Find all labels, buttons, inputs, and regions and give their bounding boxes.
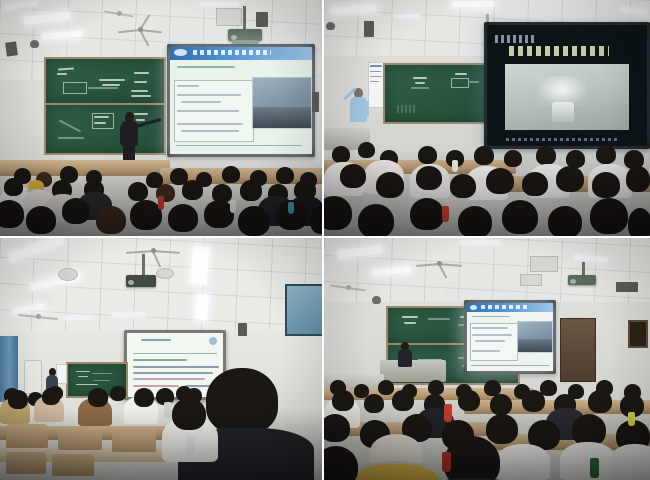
- wall-speaker: [256, 12, 268, 27]
- ceiling-vent: [216, 8, 242, 26]
- photo-panel-bottom-left: [0, 238, 322, 480]
- presentation-slide: [487, 25, 647, 146]
- water-bottle: [444, 404, 452, 422]
- slide-caption: [506, 138, 618, 142]
- security-camera: [372, 296, 381, 304]
- projector-mount-rod: [142, 254, 145, 276]
- wall-speaker: [238, 323, 247, 336]
- water-bottle: [186, 436, 195, 454]
- presentation-slide: [170, 47, 312, 154]
- ceiling-fan: [416, 254, 462, 272]
- projector-mount-rod: [582, 262, 585, 276]
- slide-photo: [252, 77, 312, 129]
- slide-title-text: [481, 305, 528, 309]
- water-bottle: [452, 160, 458, 172]
- chair-back: [6, 424, 48, 448]
- presentation-slide: [467, 303, 553, 371]
- lecturer-torso: [350, 97, 367, 122]
- chalkboard-upper: [44, 57, 166, 106]
- ceiling-vent: [58, 268, 78, 281]
- lecturer-torso: [398, 349, 412, 367]
- projection-screen: [484, 22, 650, 149]
- ceiling-vent: [520, 274, 542, 286]
- chair-back: [58, 426, 102, 450]
- lecturer-arm-right: [365, 101, 369, 117]
- water-bottle: [164, 402, 172, 418]
- picture-frame: [628, 320, 648, 348]
- projector-lens: [570, 279, 576, 284]
- screen-side-speaker: [312, 92, 319, 112]
- photo-panel-bottom-right: [324, 238, 650, 480]
- window: [285, 284, 322, 336]
- water-bottle: [158, 196, 164, 210]
- ceiling-vent: [530, 256, 558, 272]
- slide-photo: [517, 321, 553, 353]
- projection-screen: [167, 44, 315, 157]
- slide-logo-icon: [470, 305, 478, 310]
- photo-panel-top-right: [324, 0, 650, 236]
- projector-mount-rod: [486, 14, 489, 22]
- ceiling-fan: [118, 18, 162, 40]
- chalkboard: [383, 63, 497, 124]
- water-bottle: [442, 206, 449, 222]
- fluorescent-light: [195, 294, 209, 321]
- security-camera: [30, 40, 39, 48]
- ceiling-fan: [126, 240, 180, 260]
- photo-collage: [0, 0, 650, 480]
- slide-title-text: [193, 50, 271, 55]
- ceiling-vent: [156, 268, 174, 279]
- door: [560, 318, 596, 382]
- water-bottle: [628, 412, 635, 426]
- slide-text-box: [470, 323, 518, 361]
- projector-lens: [128, 280, 134, 285]
- water-bottle: [288, 202, 294, 214]
- ceiling-fan: [18, 308, 58, 324]
- security-camera: [326, 22, 335, 30]
- chair-back: [6, 452, 46, 474]
- slide-title-bar: [170, 47, 312, 60]
- university-logo: [495, 35, 537, 43]
- water-bottle: [230, 200, 236, 213]
- projector-mount-rod: [243, 6, 246, 30]
- water-bottle: [442, 452, 451, 472]
- lecturer: [346, 88, 370, 134]
- wall-speaker: [616, 282, 638, 292]
- air-conditioner: [24, 360, 42, 394]
- wall-speaker: [364, 21, 374, 37]
- ceiling-fan: [104, 6, 134, 20]
- chalkboard-lower: [44, 103, 166, 155]
- ceiling-fan: [330, 280, 366, 294]
- projection-screen: [464, 300, 556, 374]
- slide-text-box: [174, 80, 254, 142]
- chair-back: [52, 454, 94, 476]
- lecturer-arm-left: [120, 126, 123, 144]
- wall-speaker: [5, 41, 18, 56]
- water-bottle: [590, 458, 599, 478]
- chair-back: [112, 428, 156, 452]
- slide-photo: [505, 64, 630, 131]
- fluorescent-light: [452, 1, 494, 7]
- photo-panel-top-left: [0, 0, 322, 236]
- slide-title-text: [509, 46, 608, 57]
- slide-logo-icon: [174, 49, 187, 56]
- slide-title-bar: [467, 303, 553, 312]
- lecturer: [396, 342, 414, 378]
